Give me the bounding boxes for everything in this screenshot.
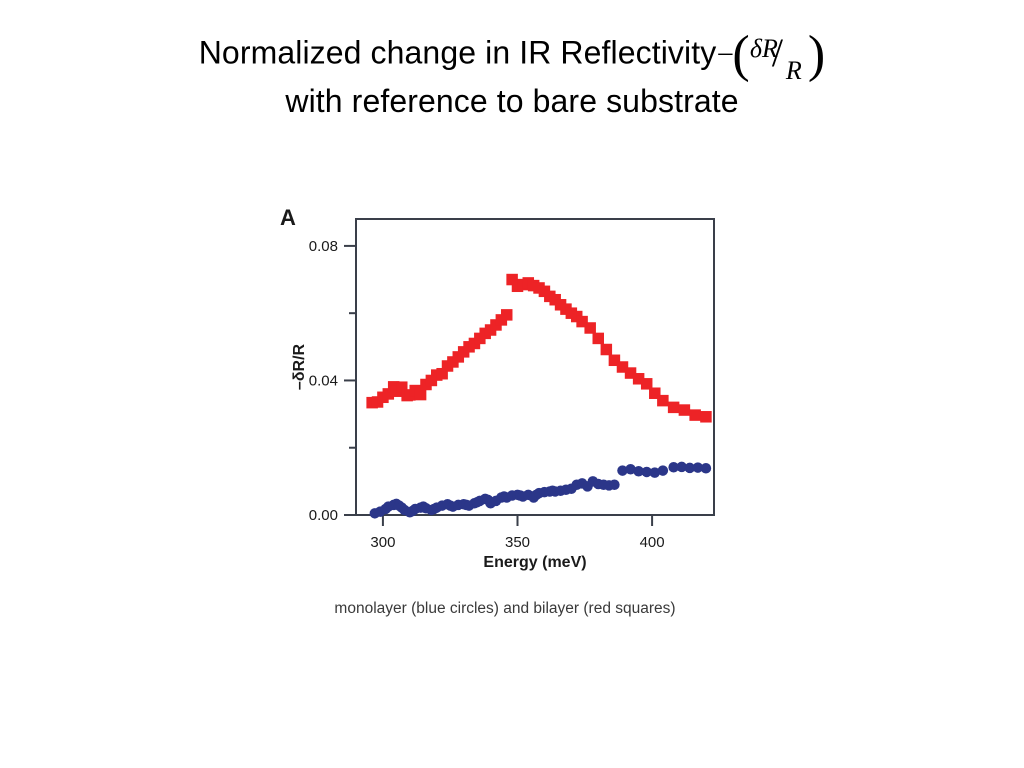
y-tick-label: 0.00 [309,507,338,524]
data-point-square [501,309,512,321]
data-point-square [679,404,691,416]
data-point-circle [701,463,712,474]
data-point-square [668,402,680,414]
x-tick-label: 350 [505,534,530,551]
data-point-square [657,395,669,407]
data-point-square [601,344,613,356]
data-point-square [593,333,605,345]
x-axis-title: Energy (meV) [483,554,586,571]
x-axis-tick-labels: 300350400 [370,534,664,551]
page-title: Normalized change in IR Reflectivity–(δR… [0,30,1024,122]
data-point-square [415,389,427,401]
y-tick-label: 0.08 [309,238,338,255]
formula-slash: / [772,32,783,74]
x-axis-ticks [383,515,652,526]
x-tick-label: 400 [640,534,665,551]
y-axis-title: –δR/R [291,343,308,390]
formula-close-paren: ) [808,26,825,83]
data-point-circle [658,465,669,476]
figure-panel: A 0.000.040.08 300350400 Energy (meV) –δ… [270,195,740,645]
formula-denominator: R [786,50,802,92]
page-title-text: Normalized change in IR Reflectivity [199,34,717,70]
page-title-line-1: Normalized change in IR Reflectivity–(δR… [0,30,1024,80]
data-point-square [700,411,712,423]
formula-minus-sign: – [718,37,732,68]
x-tick-label: 300 [370,534,395,551]
figure-caption: monolayer (blue circles) and bilayer (re… [270,600,740,618]
data-point-circle [609,479,620,490]
reflectivity-scatter-chart: 0.000.040.08 300350400 Energy (meV) –δR/… [270,195,740,595]
y-tick-label: 0.04 [309,372,338,389]
formula-fraction: δR/R [750,28,808,78]
y-axis-tick-labels: 0.000.040.08 [309,238,338,524]
delta-r-over-r-formula: –(δR/R) [718,28,825,78]
y-axis-ticks [344,246,356,515]
page-title-line-2: with reference to bare substrate [0,80,1024,122]
formula-open-paren: ( [732,26,749,83]
data-point-square [584,322,596,334]
data-point-square [689,409,701,421]
